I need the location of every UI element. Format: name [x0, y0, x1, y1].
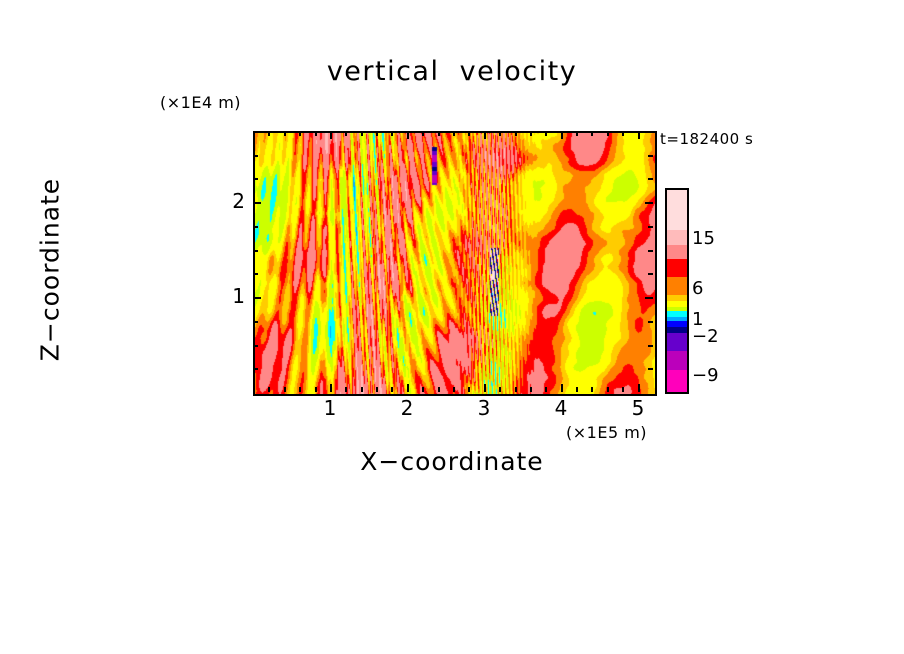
y-tick-minor-right — [648, 368, 653, 370]
x-tick-major-top — [330, 131, 332, 139]
colorbar-band — [667, 351, 687, 369]
x-tick-minor-top — [268, 131, 270, 136]
x-tick-label: 2 — [387, 396, 427, 420]
x-tick-minor — [622, 387, 624, 392]
x-tick-minor — [438, 387, 440, 392]
x-tick-minor — [376, 387, 378, 392]
x-tick-major — [407, 384, 409, 392]
x-tick-minor-top — [315, 131, 317, 136]
y-tick-minor — [253, 226, 258, 228]
y-tick-major — [253, 202, 261, 204]
x-tick-minor-top — [361, 131, 363, 136]
x-tick-minor — [607, 387, 609, 392]
x-tick-minor-top — [515, 131, 517, 136]
x-tick-minor — [345, 387, 347, 392]
x-tick-minor-top — [545, 131, 547, 136]
colorbar-band — [667, 190, 687, 230]
y-tick-minor — [253, 155, 258, 157]
page-title: vertical velocity — [0, 56, 904, 87]
x-tick-minor-top — [438, 131, 440, 136]
x-tick-minor-top — [468, 131, 470, 136]
x-tick-minor-top — [591, 131, 593, 136]
y-tick-minor-right — [648, 250, 653, 252]
x-tick-minor — [268, 387, 270, 392]
x-tick-minor-top — [607, 131, 609, 136]
y-tick-minor — [253, 250, 258, 252]
x-tick-major — [561, 384, 563, 392]
colorbar-band — [667, 277, 687, 295]
colorbar-tick-label: −9 — [692, 365, 719, 386]
x-tick-minor-top — [530, 131, 532, 136]
y-tick-minor — [253, 345, 258, 347]
x-tick-minor — [284, 387, 286, 392]
x-tick-minor — [576, 387, 578, 392]
contour-plot-area — [253, 131, 657, 396]
x-tick-major — [638, 384, 640, 392]
colorbar-band — [667, 230, 687, 244]
y-tick-label: 1 — [205, 284, 245, 308]
x-tick-minor-top — [576, 131, 578, 136]
x-tick-minor-top — [345, 131, 347, 136]
colorbar-tick-label: 6 — [692, 278, 703, 299]
x-tick-label: 1 — [310, 396, 350, 420]
x-axis-label: X−coordinate — [0, 447, 904, 476]
x-tick-label: 3 — [464, 396, 504, 420]
y-tick-minor — [253, 178, 258, 180]
x-tick-major-top — [638, 131, 640, 139]
x-tick-minor — [315, 387, 317, 392]
figure-root: vertical velocity (×1E4 m) (×1E5 m) t=18… — [0, 0, 904, 654]
colorbar — [665, 188, 689, 394]
x-tick-label: 4 — [541, 396, 581, 420]
x-tick-major — [484, 384, 486, 392]
colorbar-band — [667, 259, 687, 277]
y-axis-label: Z−coordinate — [36, 120, 65, 420]
x-tick-label: 5 — [618, 396, 658, 420]
y-tick-minor-right — [648, 155, 653, 157]
x-tick-minor — [361, 387, 363, 392]
x-tick-minor-top — [499, 131, 501, 136]
y-tick-minor — [253, 273, 258, 275]
colorbar-tick-label: −2 — [692, 326, 719, 347]
y-tick-minor-right — [648, 273, 653, 275]
x-tick-major-top — [561, 131, 563, 139]
x-tick-minor-top — [422, 131, 424, 136]
colorbar-tick-label: 15 — [692, 228, 715, 249]
x-tick-minor — [453, 387, 455, 392]
x-tick-minor — [515, 387, 517, 392]
x-tick-minor — [299, 387, 301, 392]
y-tick-major-right — [645, 202, 653, 204]
contour-field-canvas — [255, 133, 655, 394]
x-tick-minor — [545, 387, 547, 392]
x-tick-minor-top — [376, 131, 378, 136]
x-tick-major — [330, 384, 332, 392]
y-tick-major-right — [645, 297, 653, 299]
y-tick-minor-right — [648, 321, 653, 323]
colorbar-band — [667, 370, 687, 392]
x-tick-minor-top — [284, 131, 286, 136]
x-tick-minor — [468, 387, 470, 392]
x-tick-minor — [591, 387, 593, 392]
x-tick-minor — [530, 387, 532, 392]
y-tick-minor — [253, 368, 258, 370]
x-tick-minor-top — [299, 131, 301, 136]
y-tick-label: 2 — [205, 189, 245, 213]
y-tick-minor-right — [648, 345, 653, 347]
y-tick-major — [253, 297, 261, 299]
y-tick-minor-right — [648, 178, 653, 180]
x-tick-major-top — [484, 131, 486, 139]
x-tick-minor-top — [622, 131, 624, 136]
x-tick-major-top — [407, 131, 409, 139]
x-axis-unit-label: (×1E5 m) — [566, 423, 647, 442]
x-tick-minor — [422, 387, 424, 392]
time-annotation: t=182400 s — [660, 130, 753, 148]
x-tick-minor — [391, 387, 393, 392]
y-axis-unit-label: (×1E4 m) — [160, 93, 241, 112]
y-tick-minor-right — [648, 226, 653, 228]
y-tick-minor — [253, 321, 258, 323]
x-tick-minor-top — [453, 131, 455, 136]
colorbar-band — [667, 333, 687, 351]
x-tick-minor-top — [391, 131, 393, 136]
colorbar-band — [667, 245, 687, 259]
x-tick-minor — [499, 387, 501, 392]
